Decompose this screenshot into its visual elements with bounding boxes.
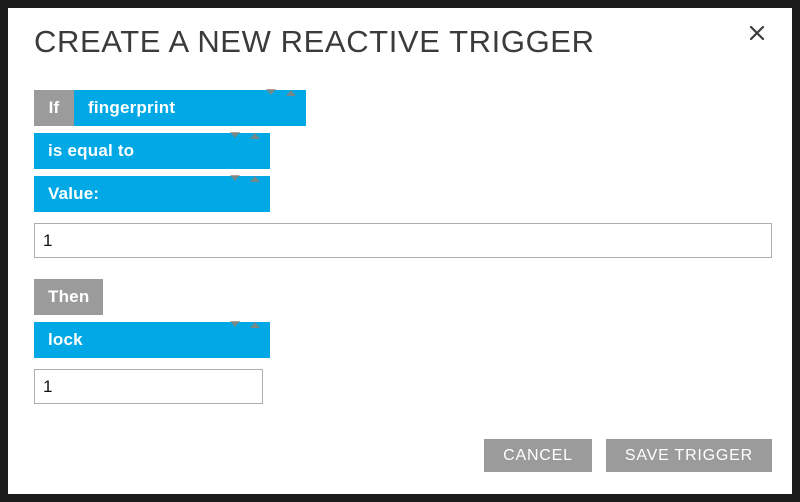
action-row: lock	[34, 322, 772, 358]
value-label-row: Value:	[34, 176, 772, 212]
save-trigger-button[interactable]: SAVE TRIGGER	[606, 439, 772, 472]
chevron-up-icon	[250, 133, 260, 139]
action-value-row	[34, 369, 772, 404]
chevron-down-icon	[230, 321, 240, 327]
condition-subject-label: fingerprint	[88, 98, 175, 117]
value-input-row	[34, 223, 772, 258]
cancel-button[interactable]: CANCEL	[484, 439, 592, 472]
dialog-screen: CREATE A NEW REACTIVE TRIGGER If fingerp…	[0, 0, 800, 502]
if-keyword-badge[interactable]: If	[34, 90, 74, 126]
condition-operator-label: is equal to	[48, 141, 134, 160]
rule-builder: If fingerprint is equal to Value:	[34, 90, 772, 404]
page-title: CREATE A NEW REACTIVE TRIGGER	[34, 22, 595, 62]
action-label: lock	[48, 330, 83, 349]
dialog-footer: CANCEL SAVE TRIGGER	[484, 439, 772, 472]
then-row: Then	[34, 279, 772, 315]
condition-value-dropdown[interactable]: Value:	[34, 176, 270, 212]
chevron-down-icon	[230, 132, 240, 138]
chevron-up-icon	[250, 322, 260, 328]
chevron-up-icon	[286, 90, 296, 96]
condition-row: If fingerprint	[34, 90, 772, 126]
chevron-down-icon	[266, 89, 276, 95]
operator-row: is equal to	[34, 133, 772, 169]
create-trigger-dialog: CREATE A NEW REACTIVE TRIGGER If fingerp…	[8, 8, 792, 494]
chevron-up-icon	[250, 176, 260, 182]
condition-operator-dropdown[interactable]: is equal to	[34, 133, 270, 169]
action-value-input[interactable]	[34, 369, 263, 404]
then-keyword-badge[interactable]: Then	[34, 279, 103, 315]
condition-value-label: Value:	[48, 184, 99, 203]
condition-value-input[interactable]	[34, 223, 772, 258]
action-dropdown[interactable]: lock	[34, 322, 270, 358]
condition-subject-dropdown[interactable]: fingerprint	[74, 90, 306, 126]
close-icon[interactable]	[742, 18, 772, 48]
chevron-down-icon	[230, 175, 240, 181]
